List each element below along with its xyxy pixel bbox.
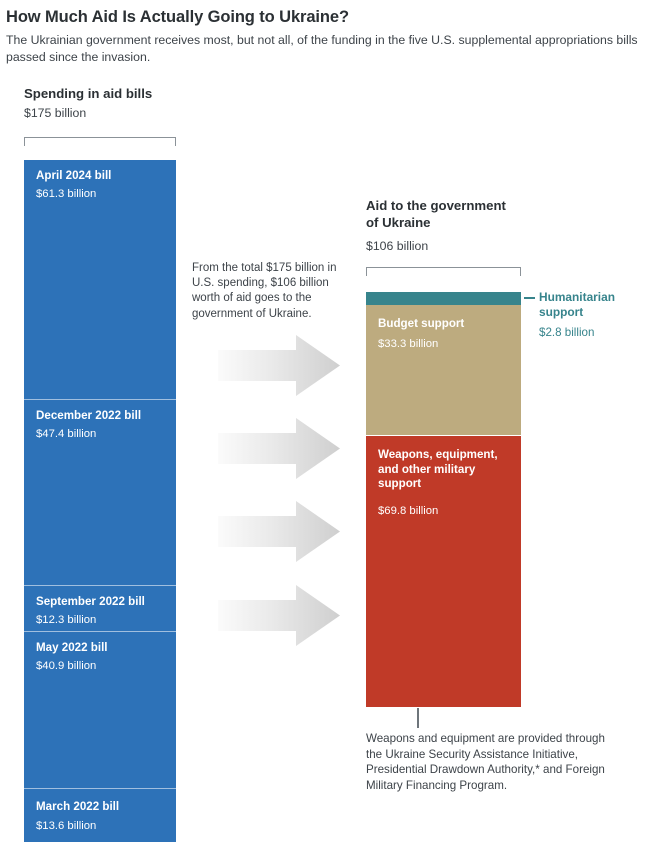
right-column-heading-line2: of Ukraine: [366, 214, 546, 231]
right-column-heading-line1: Aid to the government: [366, 197, 546, 214]
bar-segment-december-2022[interactable]: December 2022 bill $47.4 billion: [24, 400, 176, 585]
bar-segment-april-2024[interactable]: April 2024 bill $61.3 billion: [24, 160, 176, 399]
flow-arrow-icon-4: [218, 585, 340, 646]
bar-segment-budget-support[interactable]: Budget support $33.3 billion: [366, 305, 521, 435]
segment-value: $47.4 billion: [36, 427, 96, 441]
right-bracket: [366, 267, 521, 276]
flow-explanation-note: From the total $175 billion in U.S. spen…: [192, 261, 342, 322]
flow-arrow-icon-3: [218, 501, 340, 562]
left-bracket: [24, 137, 176, 146]
segment-value: $33.3 billion: [378, 337, 438, 351]
footnote-connector-line: [417, 708, 419, 728]
flow-arrow-icon-1: [218, 335, 340, 396]
callout-value-humanitarian: $2.8 billion: [539, 326, 594, 339]
segment-value: $12.3 billion: [36, 613, 96, 627]
page-title: How Much Aid Is Actually Going to Ukrain…: [6, 8, 646, 27]
segment-value: $61.3 billion: [36, 187, 96, 201]
segment-label: Weapons, equipment, and other military s…: [378, 448, 513, 492]
right-stacked-bar: Budget support $33.3 billion Weapons, eq…: [366, 292, 521, 707]
segment-label: September 2022 bill: [36, 595, 168, 610]
segment-label: April 2024 bill: [36, 169, 168, 184]
bar-segment-may-2022[interactable]: May 2022 bill $40.9 billion: [24, 632, 176, 789]
left-column-total: $175 billion: [24, 106, 86, 120]
em-dash-icon: [524, 297, 535, 299]
left-column-heading: Spending in aid bills: [24, 85, 244, 102]
footnote-text: Weapons and equipment are provided throu…: [366, 731, 616, 793]
page-subtitle: The Ukrainian government receives most, …: [6, 32, 654, 65]
infographic-canvas: How Much Aid Is Actually Going to Ukrain…: [0, 0, 660, 851]
segment-label: Budget support: [378, 317, 513, 332]
bar-segment-humanitarian-support[interactable]: [366, 292, 521, 305]
segment-label: March 2022 bill: [36, 800, 168, 815]
segment-value: $40.9 billion: [36, 659, 96, 673]
flow-arrow-icon-2: [218, 418, 340, 479]
bar-segment-march-2022[interactable]: March 2022 bill $13.6 billion: [24, 789, 176, 842]
bar-segment-september-2022[interactable]: September 2022 bill $12.3 billion: [24, 586, 176, 633]
segment-label: May 2022 bill: [36, 641, 168, 656]
right-column-total: $106 billion: [366, 239, 428, 253]
callout-label-humanitarian: Humanitarian support: [539, 290, 651, 320]
bar-segment-military-support[interactable]: Weapons, equipment, and other military s…: [366, 436, 521, 707]
segment-value: $13.6 billion: [36, 819, 96, 833]
segment-value: $69.8 billion: [378, 504, 438, 518]
left-stacked-bar: April 2024 bill $61.3 billion December 2…: [24, 160, 176, 842]
segment-label: December 2022 bill: [36, 409, 168, 424]
